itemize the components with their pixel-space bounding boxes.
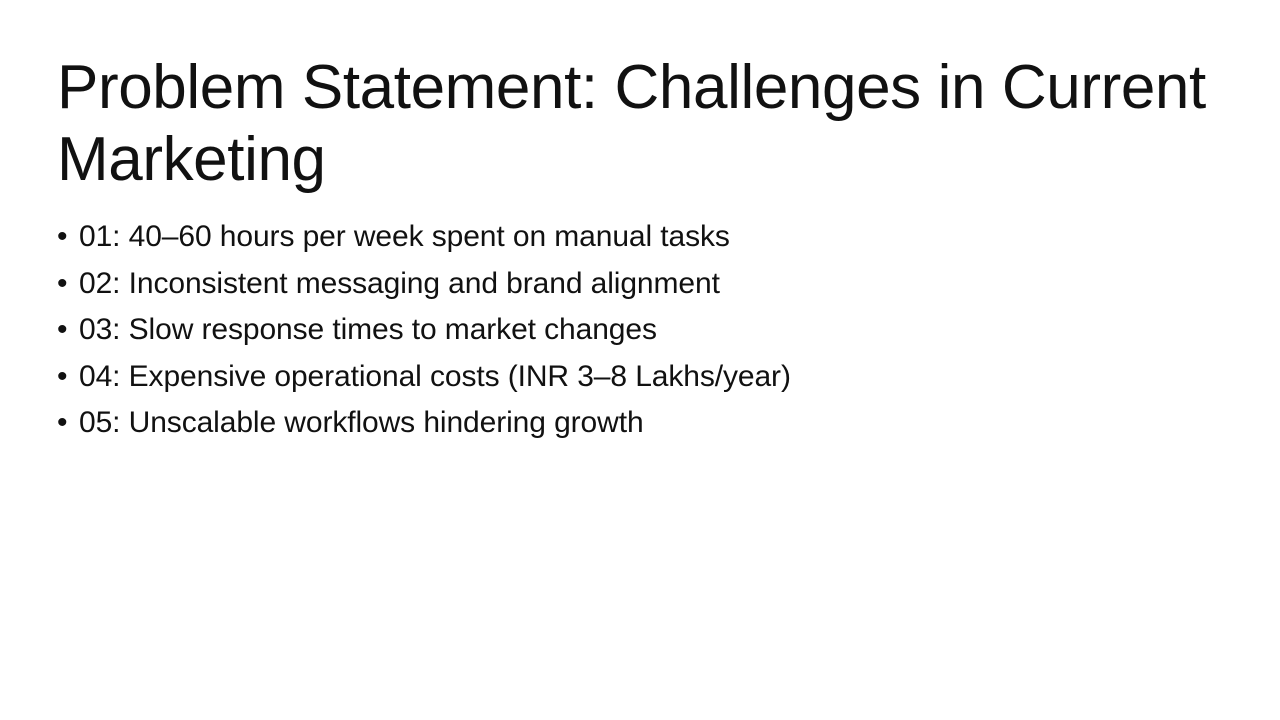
- bullet-point-icon: •: [57, 214, 79, 261]
- list-item[interactable]: • 01: 40–60 hours per week spent on manu…: [57, 214, 1207, 261]
- list-item-label: 01: 40–60 hours per week spent on manual…: [79, 214, 730, 261]
- bullet-point-icon: •: [57, 261, 79, 308]
- bullet-list: • 01: 40–60 hours per week spent on manu…: [57, 214, 1207, 447]
- list-item-label: 04: Expensive operational costs (INR 3–8…: [79, 354, 791, 401]
- list-item-label: 03: Slow response times to market change…: [79, 307, 657, 354]
- list-item[interactable]: • 02: Inconsistent messaging and brand a…: [57, 261, 1207, 308]
- list-item[interactable]: • 03: Slow response times to market chan…: [57, 307, 1207, 354]
- list-item[interactable]: • 04: Expensive operational costs (INR 3…: [57, 354, 1207, 401]
- presentation-slide: Problem Statement: Challenges in Current…: [0, 0, 1280, 720]
- page-title: Problem Statement: Challenges in Current…: [57, 52, 1237, 196]
- bullet-point-icon: •: [57, 354, 79, 401]
- list-item-label: 02: Inconsistent messaging and brand ali…: [79, 261, 720, 308]
- list-item-label: 05: Unscalable workflows hindering growt…: [79, 400, 644, 447]
- bullet-point-icon: •: [57, 400, 79, 447]
- list-item[interactable]: • 05: Unscalable workflows hindering gro…: [57, 400, 1207, 447]
- bullet-point-icon: •: [57, 307, 79, 354]
